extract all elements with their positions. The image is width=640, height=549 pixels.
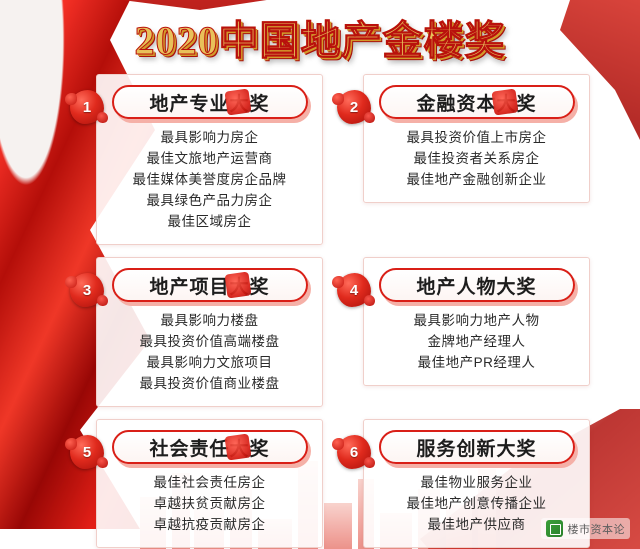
list-item: 最佳地产创意传播企业 [372, 493, 581, 514]
award-category-label: 地产项目大奖 [149, 272, 269, 299]
award-card: 社会责任大奖 最佳社会责任房企 卓越扶贫贡献房企 卓越抗疫贡献房企 [96, 419, 323, 548]
award-category-pill: 地产专业大奖 [112, 85, 308, 119]
award-category-label: 社会责任大奖 [149, 434, 269, 461]
award-category-label: 服务创新大奖 [416, 434, 536, 461]
list-item: 卓越扶贫贡献房企 [105, 493, 314, 514]
list-item: 最佳地产PR经理人 [372, 352, 581, 373]
award-category-pill: 金融资本大奖 [379, 85, 575, 119]
list-item: 最具影响力文旅项目 [105, 352, 314, 373]
award-item-list: 最具投资价值上市房企 最佳投资者关系房企 最佳地产金融创新企业 [372, 127, 581, 190]
list-item: 最具投资价值商业楼盘 [105, 373, 314, 394]
list-item: 最具投资价值高端楼盘 [105, 331, 314, 352]
list-item: 最具影响力房企 [105, 127, 314, 148]
list-item: 最具影响力楼盘 [105, 310, 314, 331]
award-cell: 5 社会责任大奖 最佳社会责任房企 卓越扶贫贡献房企 卓越抗疫贡献房企 [70, 419, 323, 548]
poster-title: 2020中国地产金楼奖 [135, 8, 506, 66]
awards-grid: 1 地产专业大奖 最具影响力房企 最佳文旅地产运营商 最佳媒体美誉度房企品牌 最… [70, 74, 590, 548]
seal-stamp-icon [224, 271, 251, 298]
list-item: 最佳媒体美誉度房企品牌 [105, 169, 314, 190]
award-card: 地产专业大奖 最具影响力房企 最佳文旅地产运营商 最佳媒体美誉度房企品牌 最具绿… [96, 74, 323, 245]
award-number-badge: 6 [337, 435, 371, 469]
list-item: 最佳地产金融创新企业 [372, 169, 581, 190]
award-number: 3 [70, 273, 104, 307]
award-category-pill: 服务创新大奖 [379, 430, 575, 464]
poster-title-wrap: 2020中国地产金楼奖 [0, 8, 640, 66]
award-category-label: 金融资本大奖 [416, 89, 536, 116]
award-number: 5 [70, 435, 104, 469]
award-number-badge: 2 [337, 90, 371, 124]
list-item: 最佳物业服务企业 [372, 472, 581, 493]
award-number-badge: 1 [70, 90, 104, 124]
award-cell: 4 地产人物大奖 最具影响力地产人物 金牌地产经理人 最佳地产PR经理人 [337, 257, 590, 407]
seal-stamp-icon [224, 433, 251, 460]
watermark: 楼市资本论 [541, 518, 631, 539]
award-item-list: 最佳社会责任房企 卓越扶贫贡献房企 卓越抗疫贡献房企 [105, 472, 314, 535]
award-card: 地产人物大奖 最具影响力地产人物 金牌地产经理人 最佳地产PR经理人 [363, 257, 590, 386]
list-item: 最佳投资者关系房企 [372, 148, 581, 169]
award-category-pill: 地产项目大奖 [112, 268, 308, 302]
award-category-label: 地产人物大奖 [416, 272, 536, 299]
award-number: 6 [337, 435, 371, 469]
list-item: 最具绿色产品力房企 [105, 190, 314, 211]
award-item-list: 最具影响力楼盘 最具投资价值高端楼盘 最具影响力文旅项目 最具投资价值商业楼盘 [105, 310, 314, 394]
list-item: 最具影响力地产人物 [372, 310, 581, 331]
award-number: 2 [337, 90, 371, 124]
list-item: 最佳文旅地产运营商 [105, 148, 314, 169]
award-cell: 2 金融资本大奖 最具投资价值上市房企 最佳投资者关系房企 最佳地产金融创新企业 [337, 74, 590, 245]
award-category-pill: 地产人物大奖 [379, 268, 575, 302]
list-item: 最佳区域房企 [105, 211, 314, 232]
award-number: 4 [337, 273, 371, 307]
seal-stamp-icon [491, 88, 518, 115]
award-card: 金融资本大奖 最具投资价值上市房企 最佳投资者关系房企 最佳地产金融创新企业 [363, 74, 590, 203]
seal-stamp-icon [224, 88, 251, 115]
list-item: 最具投资价值上市房企 [372, 127, 581, 148]
award-cell: 1 地产专业大奖 最具影响力房企 最佳文旅地产运营商 最佳媒体美誉度房企品牌 最… [70, 74, 323, 245]
award-item-list: 最具影响力地产人物 金牌地产经理人 最佳地产PR经理人 [372, 310, 581, 373]
award-card: 地产项目大奖 最具影响力楼盘 最具投资价值高端楼盘 最具影响力文旅项目 最具投资… [96, 257, 323, 407]
list-item: 最佳社会责任房企 [105, 472, 314, 493]
award-number: 1 [70, 90, 104, 124]
award-number-badge: 4 [337, 273, 371, 307]
poster-canvas: 2020中国地产金楼奖 1 地产专业大奖 最具影响力房企 最佳文旅地产运营商 最… [0, 0, 640, 549]
award-number-badge: 5 [70, 435, 104, 469]
award-number-badge: 3 [70, 273, 104, 307]
list-item: 卓越抗疫贡献房企 [105, 514, 314, 535]
award-item-list: 最具影响力房企 最佳文旅地产运营商 最佳媒体美誉度房企品牌 最具绿色产品力房企 … [105, 127, 314, 232]
award-category-pill: 社会责任大奖 [112, 430, 308, 464]
watermark-label: 楼市资本论 [568, 521, 626, 537]
list-item: 金牌地产经理人 [372, 331, 581, 352]
watermark-logo-icon [546, 520, 563, 537]
award-category-label: 地产专业大奖 [149, 89, 269, 116]
award-cell: 3 地产项目大奖 最具影响力楼盘 最具投资价值高端楼盘 最具影响力文旅项目 最具… [70, 257, 323, 407]
